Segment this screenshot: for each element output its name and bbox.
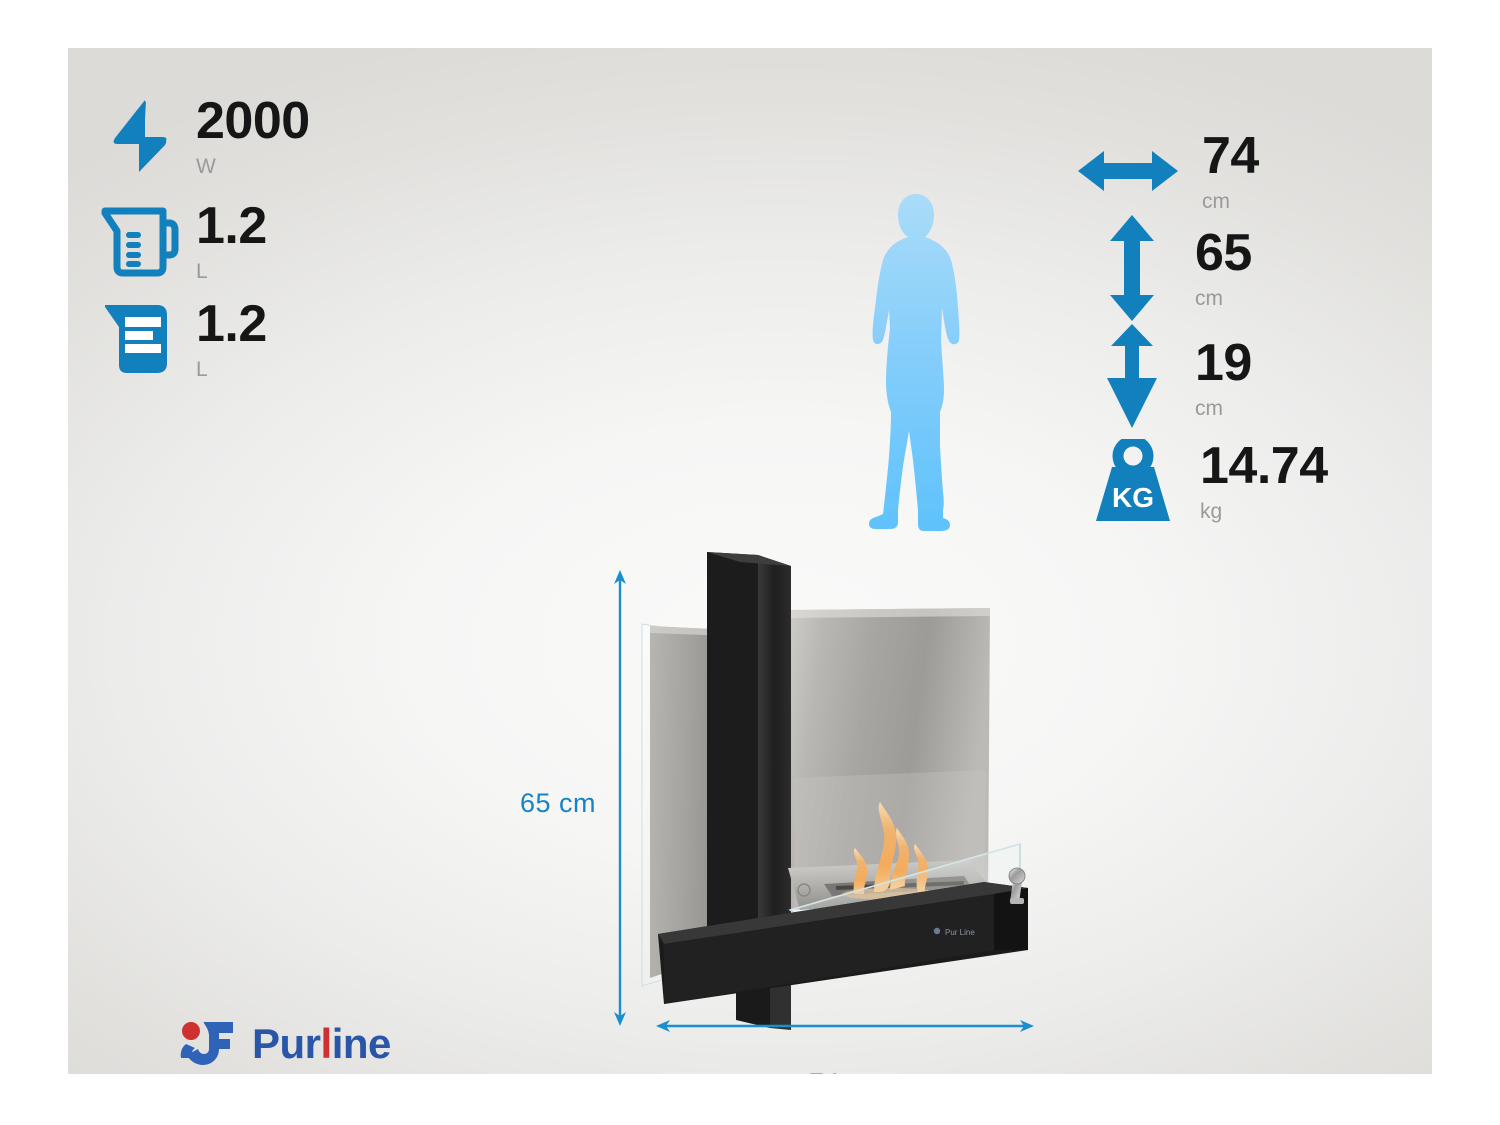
- spec-row-width: 74 cm: [1076, 130, 1259, 212]
- brand-word-red-l: l: [321, 1020, 332, 1067]
- spec-text-weight: 14.74 kg: [1200, 440, 1328, 522]
- spec-row-depth: 19 cm: [1103, 323, 1252, 433]
- spec-unit-width: cm: [1202, 191, 1259, 212]
- height-dimension-label: 65 cm: [520, 788, 596, 819]
- svg-text:KG: KG: [1112, 482, 1154, 513]
- content-panel: 2000 W 1.2 L: [68, 48, 1432, 1074]
- brand-logo: Purline: [178, 1018, 391, 1070]
- purline-figure-icon: [178, 1018, 242, 1070]
- spec-value-width: 74: [1202, 130, 1259, 182]
- width-dimension-label: 74 cm: [809, 1068, 885, 1074]
- spec-unit-depth: cm: [1195, 398, 1252, 419]
- brand-wordmark: Purline: [252, 1020, 391, 1068]
- spec-unit-height: cm: [1195, 288, 1252, 309]
- spec-text-width: 74 cm: [1202, 130, 1259, 212]
- brand-word-part1: Pur: [252, 1020, 321, 1067]
- spec-value-height: 65: [1195, 227, 1252, 279]
- spec-unit-capacity: L: [196, 261, 267, 282]
- spec-row-power: 2000 W: [98, 93, 310, 179]
- width-dimension-arrow: [654, 1014, 1036, 1038]
- vertical-arrow-icon: [1103, 213, 1161, 323]
- spec-text-capacity: 1.2 L: [196, 200, 267, 282]
- spec-text-power: 2000 W: [196, 95, 310, 177]
- spec-unit-weight: kg: [1200, 501, 1328, 522]
- height-dimension-arrow: [608, 568, 632, 1028]
- spec-text-height: 65 cm: [1195, 227, 1252, 309]
- product-image-fireplace: Pur Line: [628, 538, 1078, 1038]
- spec-unit-power: W: [196, 156, 310, 177]
- spec-value-fuel: 1.2: [196, 298, 267, 350]
- infographic-canvas: 2000 W 1.2 L: [0, 0, 1500, 1125]
- spec-text-fuel: 1.2 L: [196, 298, 267, 380]
- measuring-jug-icon: [98, 198, 184, 284]
- spec-value-capacity: 1.2: [196, 200, 267, 252]
- horizontal-arrow-icon: [1076, 141, 1180, 201]
- spec-unit-fuel: L: [196, 359, 267, 380]
- spec-row-capacity: 1.2 L: [98, 198, 267, 284]
- spec-row-height: 65 cm: [1103, 213, 1252, 323]
- spec-row-weight: KG 14.74 kg: [1088, 438, 1328, 524]
- spec-value-weight: 14.74: [1200, 440, 1328, 492]
- base-brand-text: Pur Line: [945, 928, 975, 937]
- depth-arrow-icon: [1103, 323, 1161, 433]
- spec-value-power: 2000: [196, 95, 310, 147]
- brand-word-part2: ine: [332, 1020, 391, 1067]
- spec-value-depth: 19: [1195, 337, 1252, 389]
- spec-row-fuel: 1.2 L: [98, 296, 267, 382]
- spec-text-depth: 19 cm: [1195, 337, 1252, 419]
- weight-kg-icon: KG: [1088, 438, 1178, 524]
- power-bolt-icon: [98, 93, 184, 179]
- human-scale-silhouette: [854, 188, 984, 538]
- fuel-tank-icon: [98, 296, 184, 382]
